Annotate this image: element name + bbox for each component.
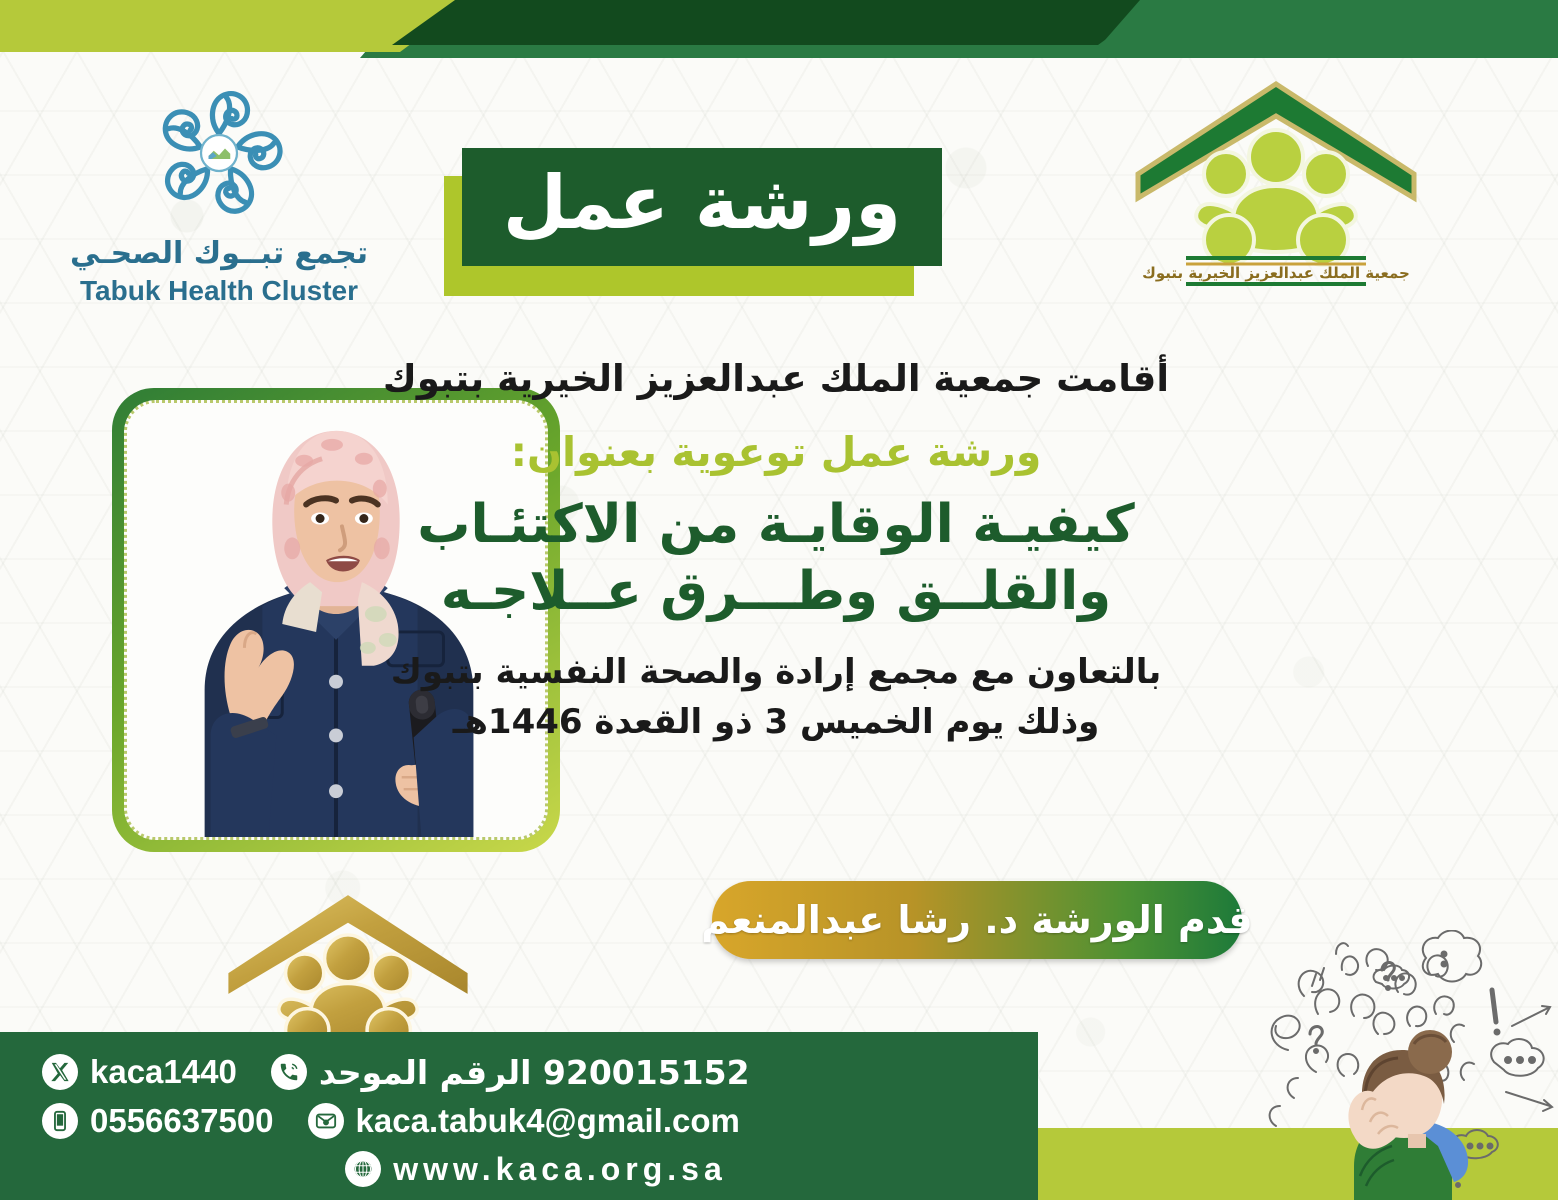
footer-contact-bar: kaca1440 920015152 الرقم الموحد 05566375… [0,1032,1038,1200]
email-icon [308,1103,344,1139]
contact-unified-number[interactable]: 920015152 الرقم الموحد [271,1053,750,1092]
body-text-block: أقامت جمعية الملك عبدالعزيز الخيرية بتبو… [346,356,1206,743]
workshop-title-line-1: كيفيـة الوقايـة من الاكتئـاب [346,493,1206,558]
thc-name-english: Tabuk Health Cluster [80,275,358,307]
stressed-woman-illustration [1258,930,1558,1200]
contact-website[interactable]: www.kaca.org.sa [345,1151,726,1188]
contact-twitter[interactable]: kaca1440 [42,1053,237,1091]
contact-mobile[interactable]: 0556637500 [42,1102,274,1140]
body-line-1: أقامت جمعية الملك عبدالعزيز الخيرية بتبو… [346,356,1206,401]
presenter-badge: قدم الورشة د. رشا عبدالمنعم [712,881,1242,959]
star-flower-logo-icon [144,78,294,228]
woman-figure [1348,1030,1468,1200]
workshop-title-line-2: والقلــق وطـــرق عــلاجـه [346,560,1206,625]
body-line-2-subtitle: ورشة عمل توعوية بعنوان: [346,427,1206,477]
poster-title: ورشة عمل [462,148,942,266]
presenter-name: قدم الورشة د. رشا عبدالمنعم [701,898,1252,942]
mobile-icon [42,1103,78,1139]
contact-row-1: kaca1440 920015152 الرقم الموحد [0,1049,750,1095]
title-text: ورشة عمل [503,166,901,248]
kaca-logo-header: جمعية الملك عبدالعزيز الخيرية بتبوك [1126,62,1426,296]
thc-name-arabic: تجمع تبــوك الصحـي [70,236,368,271]
website-url: www.kaca.org.sa [393,1151,726,1188]
unified-number: 920015152 الرقم الموحد [319,1053,750,1092]
body-line-5-partner: بالتعاون مع مجمع إرادة والصحة النفسية بت… [346,652,1206,693]
contact-grid: kaca1440 920015152 الرقم الموحد 05566375… [0,1032,1038,1200]
poster-canvas: تجمع تبــوك الصحـي Tabuk Health Cluster … [0,0,1558,1200]
globe-icon [345,1151,381,1187]
mobile-number: 0556637500 [90,1102,274,1140]
body-line-6-date: وذلك يوم الخميس 3 ذو القعدة 1446هـ [346,702,1206,743]
tabuk-health-cluster-logo: تجمع تبــوك الصحـي Tabuk Health Cluster [64,78,374,307]
house-family-logo-icon: جمعية الملك عبدالعزيز الخيرية بتبوك [1126,62,1426,292]
contact-email[interactable]: kaca.tabuk4@gmail.com [308,1102,740,1140]
contact-row-3: www.kaca.org.sa [0,1146,1038,1192]
email-address: kaca.tabuk4@gmail.com [356,1102,740,1140]
kaca-caption-arabic: جمعية الملك عبدالعزيز الخيرية بتبوك [1142,264,1410,282]
contact-row-2: 0556637500 kaca.tabuk4@gmail.com [0,1098,740,1144]
title-box: ورشة عمل [462,148,942,266]
x-twitter-icon [42,1054,78,1090]
twitter-handle: kaca1440 [90,1053,237,1091]
phone-call-icon [271,1054,307,1090]
